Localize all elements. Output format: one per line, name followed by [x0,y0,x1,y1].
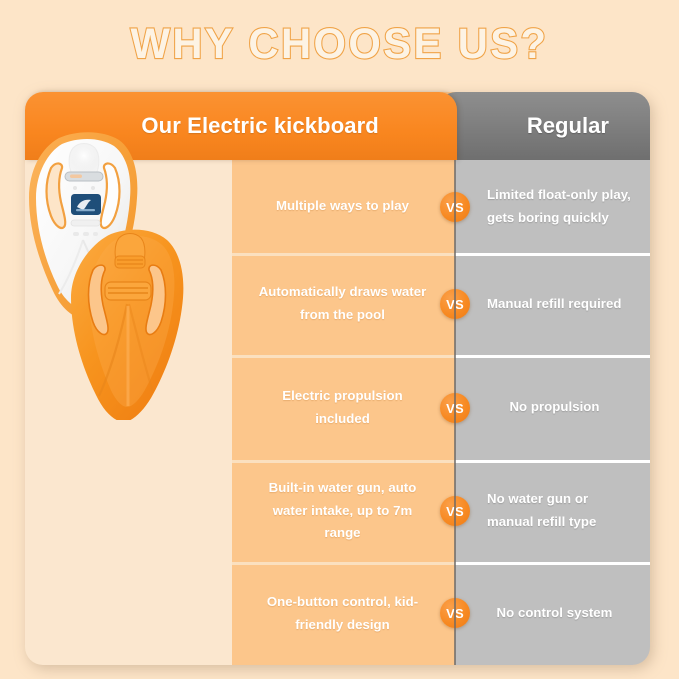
cell-text-ours: Built-in water gun, auto water intake, u… [258,477,427,545]
cell-regular: No water gun or manual refill type [455,460,650,562]
cell-ours: Multiple ways to play [232,160,455,253]
cell-ours: One-button control, kid-friendly design [232,562,455,665]
cell-text-ours: Multiple ways to play [276,195,409,218]
header-cell-regular: Regular [438,92,650,160]
header-label-regular: Regular [527,113,609,139]
cell-text-ours: One-button control, kid-friendly design [258,591,427,636]
cell-text-ours: Automatically draws water from the pool [258,281,427,326]
cell-ours: Built-in water gun, auto water intake, u… [232,460,455,562]
cell-regular: No control system [455,562,650,665]
cell-ours: Automatically draws water from the pool [232,253,455,355]
cell-text-ours: Electric propulsion included [258,385,427,430]
product-image-kickboard [5,120,205,420]
table-row: Built-in water gun, auto water intake, u… [25,460,650,562]
cell-regular: Manual refill required [455,253,650,355]
cell-regular: Limited float-only play, gets boring qui… [455,160,650,253]
cell-text-regular: Manual refill required [487,293,621,316]
page-title: WHY CHOOSE US? [10,22,669,67]
cell-ours: Electric propulsion included [232,355,455,460]
column-divider [454,160,456,665]
cell-text-regular: Limited float-only play, gets boring qui… [487,184,634,229]
cell-text-regular: No propulsion [509,396,599,419]
cell-regular: No propulsion [455,355,650,460]
kickboard-orange [71,230,183,420]
table-row: One-button control, kid-friendly design … [25,562,650,665]
cell-text-regular: No water gun or manual refill type [487,488,634,533]
cell-text-regular: No control system [497,602,613,625]
